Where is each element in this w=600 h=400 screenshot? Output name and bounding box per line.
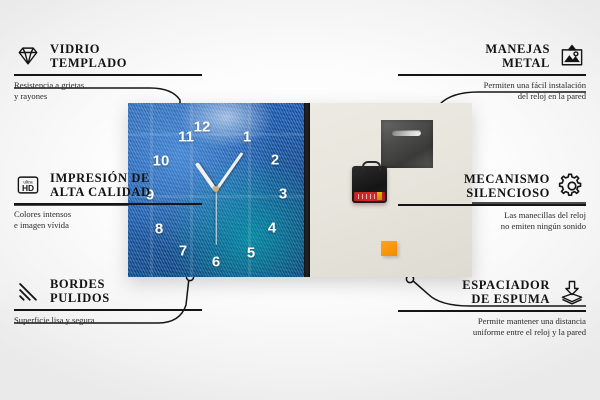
callout-title: MECANISMO SILENCIOSO bbox=[464, 172, 550, 200]
clock-numeral-1: 1 bbox=[243, 130, 251, 145]
foam-spacer-icon bbox=[558, 278, 586, 306]
clock-numeral-12: 12 bbox=[194, 120, 211, 135]
clock-numeral-4: 4 bbox=[268, 221, 276, 236]
foam-spacer-pad bbox=[381, 241, 397, 256]
callout-rule bbox=[398, 74, 586, 76]
clock-numeral-5: 5 bbox=[247, 246, 255, 261]
callout-subtitle: Colores intensos e imagen vívida bbox=[14, 209, 202, 232]
clock-numeral-3: 3 bbox=[279, 187, 287, 202]
callout-title: ESPACIADOR DE ESPUMA bbox=[462, 278, 550, 306]
mechanism-red-label bbox=[354, 192, 385, 201]
callout-title: BORDES PULIDOS bbox=[50, 277, 110, 305]
callout-subtitle: Permiten una fácil instalación del reloj… bbox=[398, 80, 586, 103]
polished-edges-icon bbox=[14, 277, 42, 305]
clock-center-cap bbox=[213, 186, 219, 192]
clock-numeral-2: 2 bbox=[271, 153, 279, 168]
callout-subtitle: Resistencia a grietas y rayones bbox=[14, 80, 202, 103]
callout-rule bbox=[14, 74, 202, 76]
clock-numeral-6: 6 bbox=[212, 255, 220, 270]
callout-subtitle: Permite mantener una distancia uniforme … bbox=[398, 316, 586, 339]
callout-subtitle: Superficie lisa y segura bbox=[14, 315, 202, 327]
clock-mechanism bbox=[352, 166, 387, 203]
hanger-slot bbox=[392, 130, 421, 136]
infographic-canvas: 12 1 2 3 4 5 6 7 8 9 10 11 bbox=[0, 0, 600, 400]
callout-title: VIDRIO TEMPLADO bbox=[50, 42, 127, 70]
callout-title: MANEJAS METAL bbox=[485, 42, 550, 70]
callout-rule bbox=[14, 309, 202, 311]
ultra-hd-icon: ultra HD bbox=[14, 171, 42, 199]
metal-hanger-plate bbox=[381, 120, 433, 168]
callout-impresion-alta-calidad: ultra HD IMPRESIÓN DE ALTA CALIDAD Color… bbox=[14, 171, 202, 232]
mechanism-hanger-loop bbox=[362, 161, 381, 171]
callout-bordes-pulidos: BORDES PULIDOS Superficie lisa y segura bbox=[14, 277, 202, 326]
callout-rule bbox=[398, 204, 586, 206]
callout-mecanismo-silencioso: MECANISMO SILENCIOSO Las manecillas del … bbox=[398, 172, 586, 233]
callout-rule bbox=[14, 203, 202, 205]
callout-subtitle: Las manecillas del reloj no emiten ningú… bbox=[398, 210, 586, 233]
clock-numeral-10: 10 bbox=[153, 154, 170, 169]
svg-text:HD: HD bbox=[22, 183, 34, 193]
gear-icon bbox=[558, 172, 586, 200]
callout-vidrio-templado: VIDRIO TEMPLADO Resistencia a grietas y … bbox=[14, 42, 202, 103]
callout-title: IMPRESIÓN DE ALTA CALIDAD bbox=[50, 171, 151, 199]
callout-rule bbox=[398, 310, 586, 312]
clock-numeral-7: 7 bbox=[179, 244, 187, 259]
hanging-frame-icon bbox=[558, 42, 586, 70]
callout-espaciador-espuma: ESPACIADOR DE ESPUMA Permite mantener un… bbox=[398, 278, 586, 339]
callout-manejas-metal: MANEJAS METAL Permiten una fácil instala… bbox=[398, 42, 586, 103]
mechanism-battery-chip bbox=[377, 192, 382, 200]
clock-second-hand bbox=[215, 190, 216, 245]
clock-numeral-11: 11 bbox=[178, 130, 194, 145]
diamond-icon bbox=[14, 42, 42, 70]
